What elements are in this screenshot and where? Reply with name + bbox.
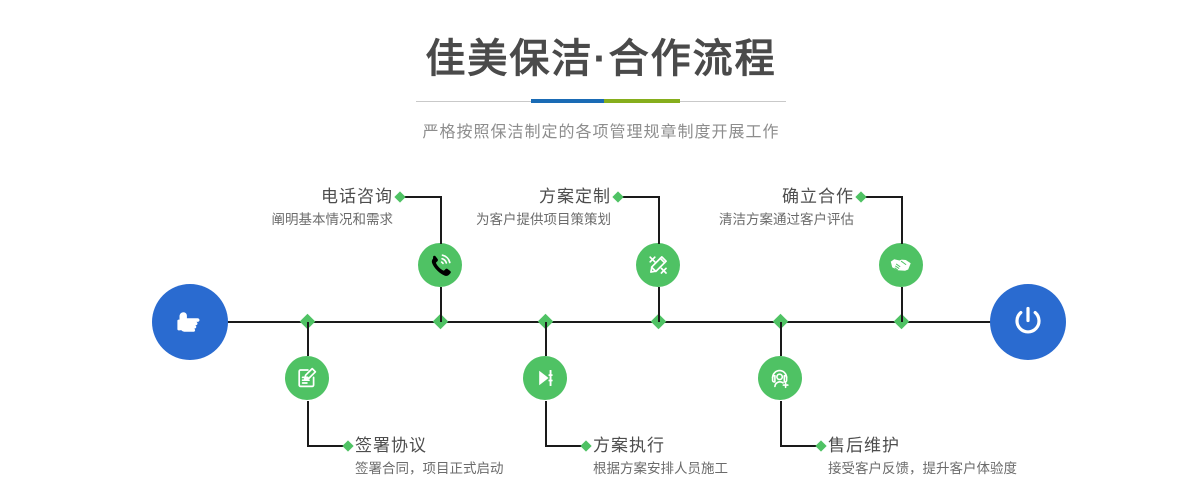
handshake-icon — [888, 252, 914, 278]
step-text-top-3: 确立合作 清洁方案通过客户评估 — [620, 187, 854, 229]
phone-call-icon — [427, 252, 453, 278]
timeline-start-endpoint — [152, 284, 228, 360]
step-connector-v-top-3 — [901, 196, 903, 244]
step-icon-top-2 — [636, 243, 680, 287]
step-label-diamond-bottom-1 — [342, 440, 353, 451]
step-desc: 签署合同，项目正式启动 — [355, 456, 615, 478]
cooperation-process-infographic: 佳美保洁·合作流程 严格按照保洁制定的各项管理规章制度开展工作 — [0, 0, 1202, 502]
step-stem-top-2 — [658, 287, 660, 322]
step-stem-top-1 — [440, 287, 442, 322]
step-icon-top-1 — [418, 243, 462, 287]
step-desc: 清洁方案通过客户评估 — [620, 207, 854, 229]
step-connector-v-bottom-3 — [780, 401, 782, 447]
step-stem-bottom-2 — [545, 322, 547, 356]
sign-document-icon — [294, 365, 320, 391]
step-title: 确立合作 — [620, 187, 854, 207]
step-connector-v-bottom-2 — [545, 401, 547, 447]
step-text-top-2: 方案定制 为客户提供项目策策划 — [380, 187, 611, 229]
step-text-bottom-3: 售后维护 接受客户反馈，提升客户体验度 — [828, 436, 1128, 478]
step-stem-top-3 — [901, 287, 903, 322]
step-connector-h-top-3 — [863, 196, 903, 198]
step-connector-h-bottom-2 — [545, 445, 585, 447]
timeline-end-endpoint — [990, 284, 1066, 360]
step-icon-bottom-2 — [523, 356, 567, 400]
pencil-design-icon — [645, 252, 671, 278]
power-icon — [1008, 300, 1048, 345]
divider-segment-green — [604, 99, 680, 103]
step-text-bottom-2: 方案执行 根据方案安排人员施工 — [593, 436, 843, 478]
step-desc: 接受客户反馈，提升客户体验度 — [828, 456, 1128, 478]
step-icon-top-3 — [879, 243, 923, 287]
step-stem-bottom-1 — [307, 322, 309, 356]
step-icon-bottom-1 — [285, 356, 329, 400]
step-connector-h-bottom-1 — [307, 445, 347, 447]
pointing-hand-icon — [170, 300, 210, 345]
step-title: 售后维护 — [828, 436, 1128, 456]
step-text-top-1: 电话咨询 阐明基本情况和需求 — [150, 187, 393, 229]
step-connector-v-bottom-1 — [307, 401, 309, 447]
customer-service-icon — [767, 365, 793, 391]
step-title: 电话咨询 — [150, 187, 393, 207]
step-desc: 为客户提供项目策策划 — [380, 207, 611, 229]
step-stem-bottom-3 — [780, 322, 782, 356]
page-title: 佳美保洁·合作流程 — [0, 0, 1202, 82]
step-icon-bottom-3 — [758, 356, 802, 400]
play-execute-icon — [532, 365, 558, 391]
page-subtitle: 严格按照保洁制定的各项管理规章制度开展工作 — [0, 108, 1202, 142]
step-desc: 根据方案安排人员施工 — [593, 456, 843, 478]
title-divider — [416, 96, 786, 108]
step-desc: 阐明基本情况和需求 — [150, 207, 393, 229]
step-text-bottom-1: 签署协议 签署合同，项目正式启动 — [355, 436, 615, 478]
step-connector-h-bottom-3 — [780, 445, 820, 447]
divider-segment-blue — [531, 99, 604, 103]
step-label-diamond-top-3 — [855, 191, 866, 202]
step-title: 方案定制 — [380, 187, 611, 207]
header: 佳美保洁·合作流程 严格按照保洁制定的各项管理规章制度开展工作 — [0, 0, 1202, 142]
